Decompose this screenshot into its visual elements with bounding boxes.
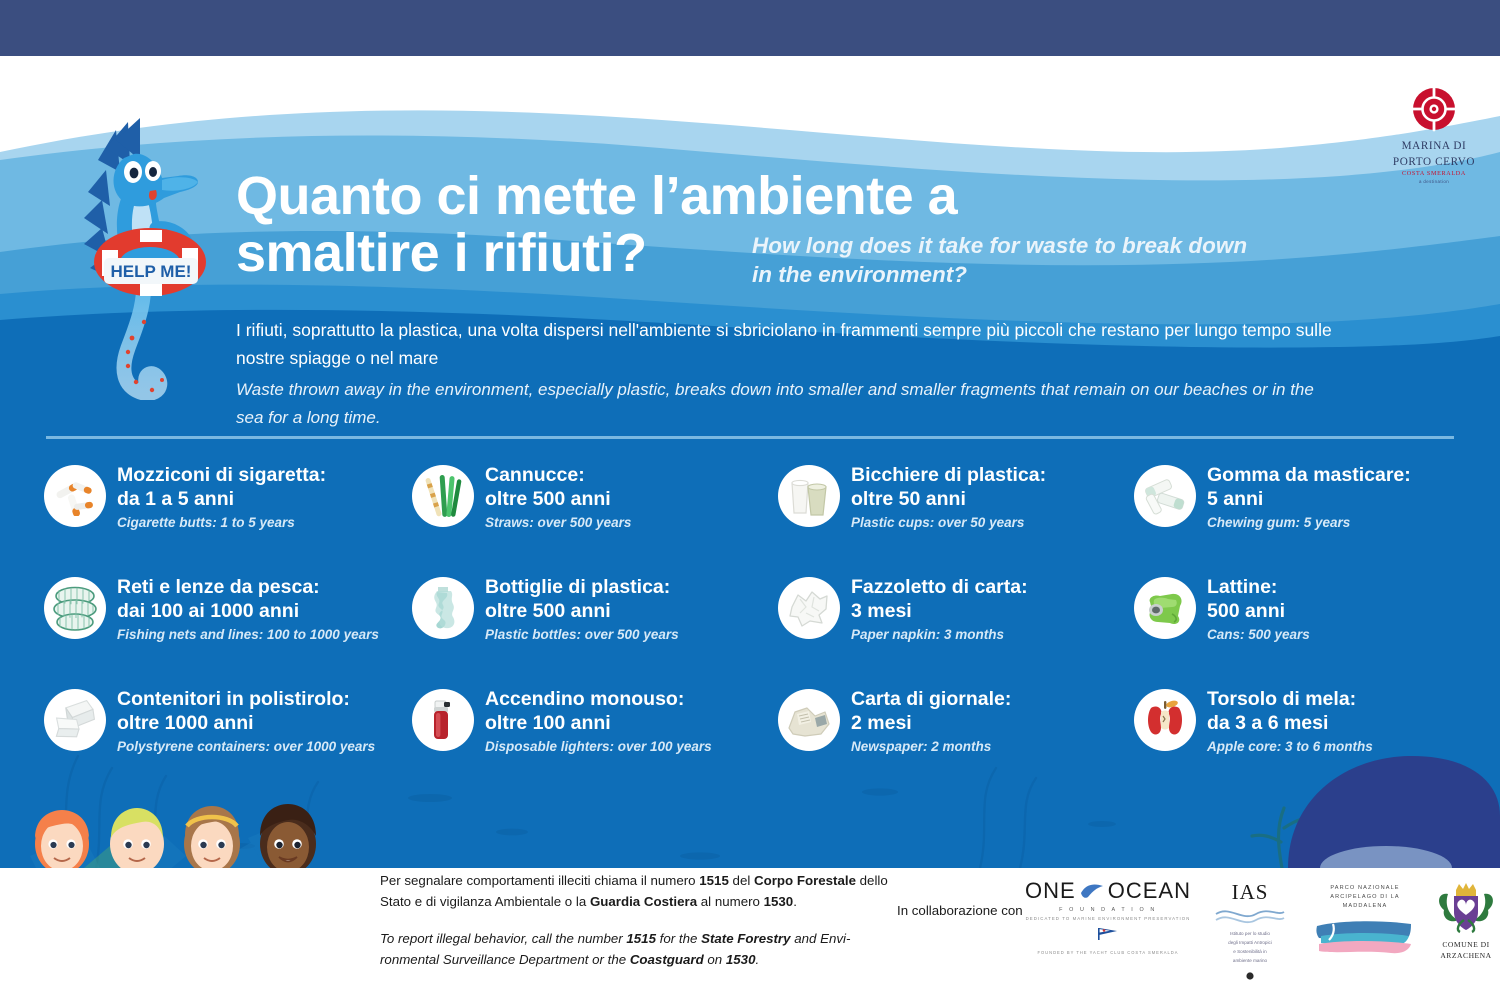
marina-logo-line3: COSTA SMERALDA bbox=[1378, 171, 1490, 177]
report-it-num1: 1515 bbox=[699, 873, 729, 888]
waste-item-english: Newspaper: 2 months bbox=[851, 738, 1011, 757]
waste-item-duration: 500 anni bbox=[1207, 599, 1310, 623]
paper-napkin-icon bbox=[778, 577, 840, 639]
waste-item-english: Straws: over 500 years bbox=[485, 514, 631, 533]
pn-line1: PARCO NAZIONALE bbox=[1310, 884, 1420, 893]
polystyrene-container-icon bbox=[44, 689, 106, 751]
waste-item-text: Gomma da masticare: 5 anni Chewing gum: … bbox=[1207, 462, 1411, 533]
partner-logos: ONE OCEAN F O U N D A T I O N DEDICATED … bbox=[1020, 868, 1500, 988]
top-navy-bar bbox=[0, 0, 1500, 56]
waste-item-text: Contenitori in polistirolo: oltre 1000 a… bbox=[117, 686, 375, 757]
compass-rose-icon bbox=[1410, 86, 1458, 132]
waste-item-english: Chewing gum: 5 years bbox=[1207, 514, 1411, 533]
report-en-org2: Coastguard bbox=[630, 952, 704, 967]
waste-item-name: Fazzoletto di carta: bbox=[851, 575, 1028, 599]
seahorse-illustration: HELP ME! bbox=[58, 100, 238, 400]
waste-item-text: Reti e lenze da pesca: dai 100 ai 1000 a… bbox=[117, 574, 379, 645]
report-it-org2: Guardia Costiera bbox=[590, 894, 697, 909]
waste-item-text: Cannucce: oltre 500 anni Straws: over 50… bbox=[485, 462, 631, 533]
ias-sub3: e Sostenibilità in bbox=[1208, 948, 1292, 955]
waste-item-text: Lattine: 500 anni Cans: 500 years bbox=[1207, 574, 1310, 645]
waste-item-name: Bicchiere di plastica: bbox=[851, 463, 1046, 487]
wave-swoosh-icon bbox=[1080, 882, 1104, 900]
waste-item-duration: oltre 500 anni bbox=[485, 599, 679, 623]
waste-items-grid: Mozziconi di sigaretta: da 1 a 5 anni Ci… bbox=[44, 462, 1464, 792]
waste-item-text: Fazzoletto di carta: 3 mesi Paper napkin… bbox=[851, 574, 1028, 645]
waste-item-english: Cans: 500 years bbox=[1207, 626, 1310, 645]
report-en-p4: on bbox=[704, 952, 726, 967]
one-ocean-foundation-logo: ONE OCEAN F O U N D A T I O N DEDICATED … bbox=[1020, 878, 1196, 955]
waste-item-name: Bottiglie di plastica: bbox=[485, 575, 679, 599]
section-divider bbox=[46, 436, 1454, 439]
waste-item-english: Apple core: 3 to 6 months bbox=[1207, 738, 1373, 757]
fishing-net-icon bbox=[44, 577, 106, 639]
waste-item-name: Contenitori in polistirolo: bbox=[117, 687, 375, 711]
waste-item-name: Gomma da masticare: bbox=[1207, 463, 1411, 487]
waste-item: Carta di giornale: 2 mesi Newspaper: 2 m… bbox=[778, 686, 1134, 792]
marina-logo-line2: PORTO CERVO bbox=[1378, 156, 1490, 169]
page-subtitle-line1: How long does it take for waste to break… bbox=[752, 232, 1322, 261]
ias-logo: IAS Istituto per lo studio degli Impatti… bbox=[1208, 880, 1292, 985]
report-it-org1: Corpo Forestale bbox=[754, 873, 856, 888]
waste-item-duration: dai 100 ai 1000 anni bbox=[117, 599, 379, 623]
waste-item-english: Disposable lighters: over 100 years bbox=[485, 738, 712, 757]
ooc-sub1: F O U N D A T I O N bbox=[1020, 907, 1196, 913]
waste-item: Contenitori in polistirolo: oltre 1000 a… bbox=[44, 686, 412, 792]
disposable-lighter-icon bbox=[412, 689, 474, 751]
ias-word: IAS bbox=[1208, 880, 1292, 905]
page-title-line1: Quanto ci mette l’ambiente a bbox=[236, 166, 957, 226]
report-it-p5: . bbox=[793, 894, 797, 909]
waste-item-name: Carta di giornale: bbox=[851, 687, 1011, 711]
lifering-text: HELP ME! bbox=[111, 262, 192, 281]
report-en-num1: 1515 bbox=[626, 931, 656, 946]
collaboration-label: In collaborazione con bbox=[897, 903, 1023, 918]
report-en-p1: To report illegal behavior, call the num… bbox=[380, 931, 626, 946]
report-it-p4: al numero bbox=[697, 894, 764, 909]
ooc-word1: ONE bbox=[1025, 878, 1076, 904]
ias-wave-icon bbox=[1212, 906, 1288, 928]
yacht-club-burgee-icon bbox=[1096, 926, 1120, 942]
plastic-cups-icon bbox=[778, 465, 840, 527]
report-it-p2: del bbox=[729, 873, 754, 888]
page-subtitle: How long does it take for waste to break… bbox=[752, 232, 1322, 290]
waste-item: Reti e lenze da pesca: dai 100 ai 1000 a… bbox=[44, 574, 412, 686]
waste-item-text: Carta di giornale: 2 mesi Newspaper: 2 m… bbox=[851, 686, 1011, 757]
parco-nazionale-la-maddalena-logo: PARCO NAZIONALE ARCIPELAGO DI LA MADDALE… bbox=[1310, 884, 1420, 958]
waste-item-name: Mozziconi di sigaretta: bbox=[117, 463, 326, 487]
cnr-mark-icon bbox=[1246, 972, 1254, 980]
waste-item-text: Bicchiere di plastica: oltre 50 anni Pla… bbox=[851, 462, 1046, 533]
waste-item-english: Paper napkin: 3 months bbox=[851, 626, 1028, 645]
waste-item: Torsolo di mela: da 3 a 6 mesi Apple cor… bbox=[1134, 686, 1464, 792]
comune-line2: ARZACHENA bbox=[1420, 951, 1500, 962]
marina-logo-line1: MARINA DI bbox=[1378, 140, 1490, 153]
infographic-poster: HELP ME! MARINA DI PORTO bbox=[0, 0, 1500, 1000]
waste-item-english: Fishing nets and lines: 100 to 1000 year… bbox=[117, 626, 379, 645]
waste-item-name: Torsolo di mela: bbox=[1207, 687, 1373, 711]
waste-item-english: Plastic bottles: over 500 years bbox=[485, 626, 679, 645]
waste-item-duration: da 1 a 5 anni bbox=[117, 487, 326, 511]
ooc-sub3: FOUNDED BY THE YACHT CLUB COSTA SMERALDA bbox=[1020, 950, 1196, 955]
ias-sub1: Istituto per lo studio bbox=[1208, 930, 1292, 937]
footer-report-english: To report illegal behavior, call the num… bbox=[380, 928, 900, 970]
waste-item-name: Cannucce: bbox=[485, 463, 631, 487]
waste-item-text: Mozziconi di sigaretta: da 1 a 5 anni Ci… bbox=[117, 462, 326, 533]
island-waves-icon bbox=[1313, 914, 1417, 958]
coat-of-arms-icon bbox=[1434, 880, 1498, 938]
waste-item-english: Polystyrene containers: over 1000 years bbox=[117, 738, 375, 757]
drinking-straws-icon bbox=[412, 465, 474, 527]
waste-item-duration: 2 mesi bbox=[851, 711, 1011, 735]
waste-item-name: Lattine: bbox=[1207, 575, 1310, 599]
report-en-p5: . bbox=[755, 952, 759, 967]
crushed-can-icon bbox=[1134, 577, 1196, 639]
waste-item-name: Accendino monouso: bbox=[485, 687, 712, 711]
pn-line2: ARCIPELAGO DI LA MADDALENA bbox=[1310, 893, 1420, 911]
waste-item: Bicchiere di plastica: oltre 50 anni Pla… bbox=[778, 462, 1134, 574]
report-en-org1: State Forestry bbox=[701, 931, 790, 946]
waste-item-duration: oltre 50 anni bbox=[851, 487, 1046, 511]
waste-item: Mozziconi di sigaretta: da 1 a 5 anni Ci… bbox=[44, 462, 412, 574]
waste-item-name: Reti e lenze da pesca: bbox=[117, 575, 379, 599]
report-it-p1: Per segnalare comportamenti illeciti chi… bbox=[380, 873, 699, 888]
waste-item-duration: 3 mesi bbox=[851, 599, 1028, 623]
waste-item: Bottiglie di plastica: oltre 500 anni Pl… bbox=[412, 574, 778, 686]
waste-item-duration: da 3 a 6 mesi bbox=[1207, 711, 1373, 735]
waste-item: Lattine: 500 anni Cans: 500 years bbox=[1134, 574, 1464, 686]
chewing-gum-icon bbox=[1134, 465, 1196, 527]
seahorse-mascot: HELP ME! bbox=[58, 100, 238, 400]
waste-item: Accendino monouso: oltre 100 anni Dispos… bbox=[412, 686, 778, 792]
ooc-word2: OCEAN bbox=[1108, 878, 1191, 904]
waste-item-duration: oltre 100 anni bbox=[485, 711, 712, 735]
comune-line1: COMUNE DI bbox=[1420, 940, 1500, 951]
waste-item-duration: 5 anni bbox=[1207, 487, 1411, 511]
waste-item-duration: oltre 500 anni bbox=[485, 487, 631, 511]
ias-sub2: degli Impatti Antropici bbox=[1208, 939, 1292, 946]
plastic-bottle-icon bbox=[412, 577, 474, 639]
waste-item-english: Cigarette butts: 1 to 5 years bbox=[117, 514, 326, 533]
waste-item-text: Torsolo di mela: da 3 a 6 mesi Apple cor… bbox=[1207, 686, 1373, 757]
marina-logo-line4: a destination bbox=[1378, 179, 1490, 184]
waste-item-text: Bottiglie di plastica: oltre 500 anni Pl… bbox=[485, 574, 679, 645]
waste-item-english: Plastic cups: over 50 years bbox=[851, 514, 1046, 533]
report-en-p2: for the bbox=[656, 931, 701, 946]
marina-di-porto-cervo-logo: MARINA DI PORTO CERVO COSTA SMERALDA a d… bbox=[1378, 86, 1490, 190]
waste-item: Gomma da masticare: 5 anni Chewing gum: … bbox=[1134, 462, 1464, 574]
footer-report-text: Per segnalare comportamenti illeciti chi… bbox=[380, 870, 900, 970]
footer-report-italian: Per segnalare comportamenti illeciti chi… bbox=[380, 870, 900, 912]
waste-item: Cannucce: oltre 500 anni Straws: over 50… bbox=[412, 462, 778, 574]
cigarette-butts-icon bbox=[44, 465, 106, 527]
newspaper-icon bbox=[778, 689, 840, 751]
comune-di-arzachena-logo: COMUNE DI ARZACHENA bbox=[1420, 880, 1500, 961]
intro-paragraph-english: Waste thrown away in the environment, es… bbox=[236, 376, 1336, 431]
waste-item-duration: oltre 1000 anni bbox=[117, 711, 375, 735]
report-it-num2: 1530 bbox=[764, 894, 794, 909]
ooc-sub2: DEDICATED TO MARINE ENVIRONMENT PRESERVA… bbox=[1020, 916, 1196, 921]
waste-item: Fazzoletto di carta: 3 mesi Paper napkin… bbox=[778, 574, 1134, 686]
page-subtitle-line2: in the environment? bbox=[752, 261, 1322, 290]
report-en-num2: 1530 bbox=[726, 952, 756, 967]
apple-core-icon bbox=[1134, 689, 1196, 751]
intro-paragraph-italian: I rifiuti, soprattutto la plastica, una … bbox=[236, 316, 1336, 373]
waste-item-text: Accendino monouso: oltre 100 anni Dispos… bbox=[485, 686, 712, 757]
ias-sub4: ambiente marino bbox=[1208, 957, 1292, 964]
